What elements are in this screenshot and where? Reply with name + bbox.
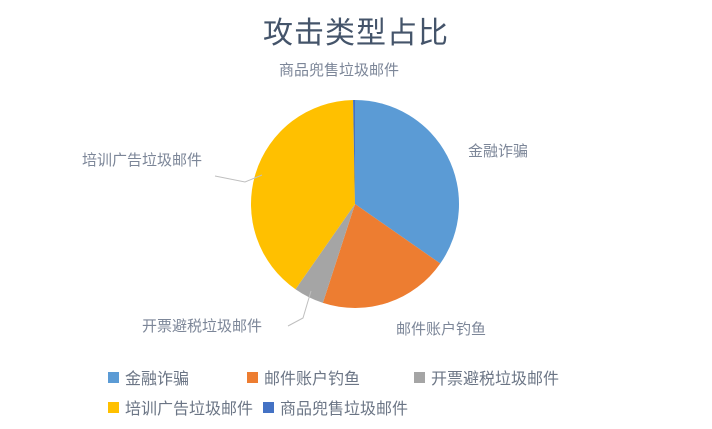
slice-label-product-peddling-spam: 商品兜售垃圾邮件: [279, 59, 399, 80]
legend-item-financial-fraud[interactable]: 金融诈骗: [108, 365, 189, 389]
legend-swatch-icon: [263, 402, 274, 413]
pie-chart-container: 攻击类型占比 商品兜售垃圾邮件 金融诈骗 培训广告垃圾邮件 开票避税垃圾邮件 邮…: [0, 0, 712, 429]
legend-row-1: 金融诈骗 邮件账户钓鱼 开票避税垃圾邮件: [0, 362, 712, 392]
legend-item-label: 培训广告垃圾邮件: [125, 395, 253, 419]
legend-item-label: 商品兜售垃圾邮件: [280, 395, 408, 419]
legend-item-invoice-tax-spam[interactable]: 开票避税垃圾邮件: [414, 365, 559, 389]
pie-slices: [251, 100, 459, 308]
legend-item-label: 开票避税垃圾邮件: [431, 365, 559, 389]
legend-item-product-peddling-spam[interactable]: 商品兜售垃圾邮件: [263, 395, 408, 419]
chart-legend: 金融诈骗 邮件账户钓鱼 开票避税垃圾邮件 培训广告垃圾邮件 商品兜售垃圾邮件: [0, 362, 712, 422]
slice-label-invoice-tax-spam: 开票避税垃圾邮件: [142, 315, 262, 336]
legend-item-email-phishing[interactable]: 邮件账户钓鱼: [247, 365, 360, 389]
legend-item-label: 邮件账户钓鱼: [264, 365, 360, 389]
slice-label-email-phishing: 邮件账户钓鱼: [396, 318, 486, 339]
slice-label-financial-fraud: 金融诈骗: [468, 140, 528, 161]
legend-swatch-icon: [414, 372, 425, 383]
legend-swatch-icon: [108, 372, 119, 383]
legend-swatch-icon: [108, 402, 119, 413]
legend-row-2: 培训广告垃圾邮件 商品兜售垃圾邮件: [0, 392, 712, 422]
legend-swatch-icon: [247, 372, 258, 383]
slice-label-training-ads-spam: 培训广告垃圾邮件: [82, 149, 202, 170]
legend-item-label: 金融诈骗: [125, 365, 189, 389]
legend-item-training-ads-spam[interactable]: 培训广告垃圾邮件: [108, 395, 253, 419]
